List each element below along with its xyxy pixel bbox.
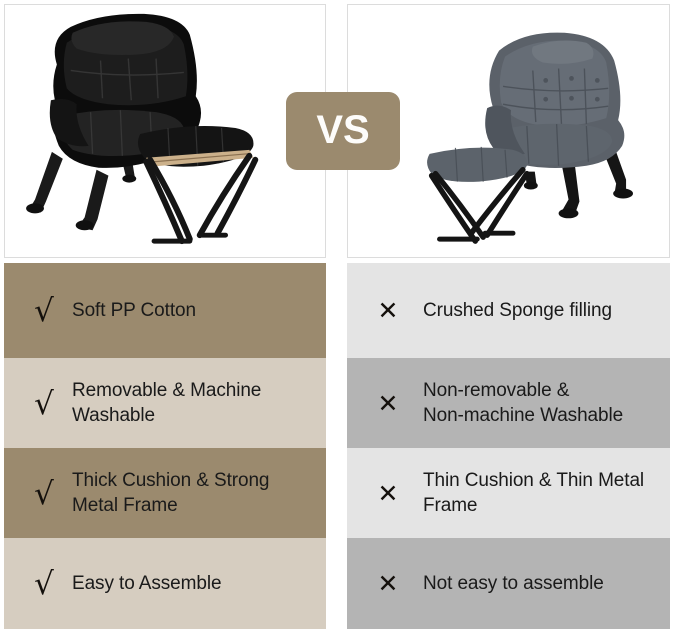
vs-label: VS bbox=[316, 110, 369, 150]
con-feature-list: ✕ Crushed Sponge filling ✕ Non-removable… bbox=[347, 263, 670, 629]
list-item: ✕ Crushed Sponge filling bbox=[347, 263, 670, 358]
cross-mark-icon: ✕ bbox=[365, 391, 411, 416]
feature-label: Thick Cushion & Strong Metal Frame bbox=[66, 468, 326, 518]
check-mark-icon: √ bbox=[22, 389, 66, 420]
list-item: √ Soft PP Cotton bbox=[4, 263, 326, 358]
list-item: ✕ Not easy to assemble bbox=[347, 538, 670, 629]
feature-label: Soft PP Cotton bbox=[66, 298, 326, 323]
feature-label: Easy to Assemble bbox=[66, 571, 326, 596]
pro-product-photo bbox=[4, 4, 326, 258]
check-mark-icon: √ bbox=[22, 479, 66, 510]
pro-column: √ Soft PP Cotton √ Removable & Machine W… bbox=[0, 0, 332, 629]
feature-label: Not easy to assemble bbox=[411, 571, 670, 596]
check-mark-icon: √ bbox=[22, 569, 66, 600]
pro-feature-list: √ Soft PP Cotton √ Removable & Machine W… bbox=[4, 263, 326, 629]
list-item: √ Thick Cushion & Strong Metal Frame bbox=[4, 448, 326, 538]
check-mark-icon: √ bbox=[22, 296, 66, 327]
vs-badge: VS bbox=[286, 92, 400, 170]
cross-mark-icon: ✕ bbox=[365, 481, 411, 506]
feature-label: Non-removable & Non-machine Washable bbox=[411, 378, 670, 428]
feature-label: Removable & Machine Washable bbox=[66, 378, 326, 428]
list-item: ✕ Thin Cushion & Thin Metal Frame bbox=[347, 448, 670, 538]
feature-label: Thin Cushion & Thin Metal Frame bbox=[411, 468, 670, 518]
list-item: √ Removable & Machine Washable bbox=[4, 358, 326, 448]
feature-label: Crushed Sponge filling bbox=[411, 298, 670, 323]
list-item: ✕ Non-removable & Non-machine Washable bbox=[347, 358, 670, 448]
list-item: √ Easy to Assemble bbox=[4, 538, 326, 629]
cross-mark-icon: ✕ bbox=[365, 571, 411, 596]
cross-mark-icon: ✕ bbox=[365, 298, 411, 323]
comparison-board: √ Soft PP Cotton √ Removable & Machine W… bbox=[0, 0, 679, 629]
